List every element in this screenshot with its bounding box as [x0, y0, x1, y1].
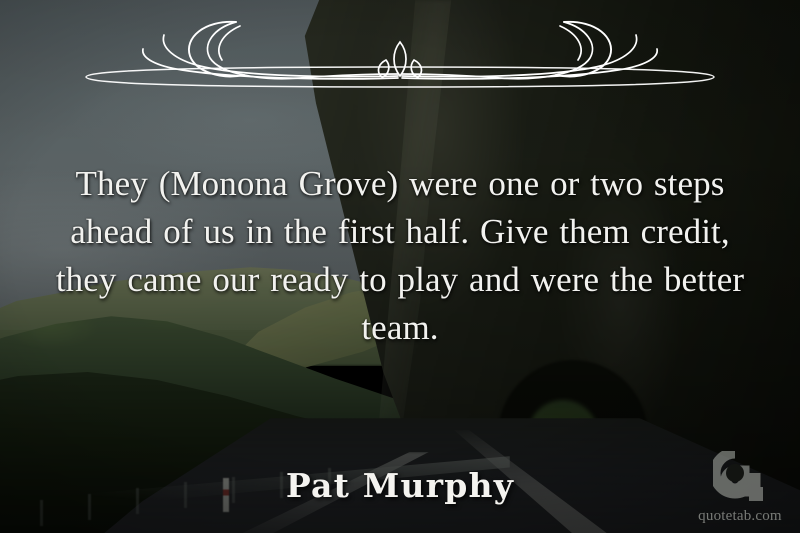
- quote-card: They (Monona Grove) were one or two step…: [0, 0, 800, 533]
- quotetab-q-logo: [713, 451, 767, 507]
- watermark[interactable]: quotetab.com: [692, 451, 788, 525]
- author-name: Pat Murphy: [0, 466, 800, 505]
- quote-text: They (Monona Grove) were one or two step…: [46, 160, 754, 352]
- flourish-ornament: [0, 6, 800, 92]
- watermark-text: quotetab.com: [692, 508, 788, 525]
